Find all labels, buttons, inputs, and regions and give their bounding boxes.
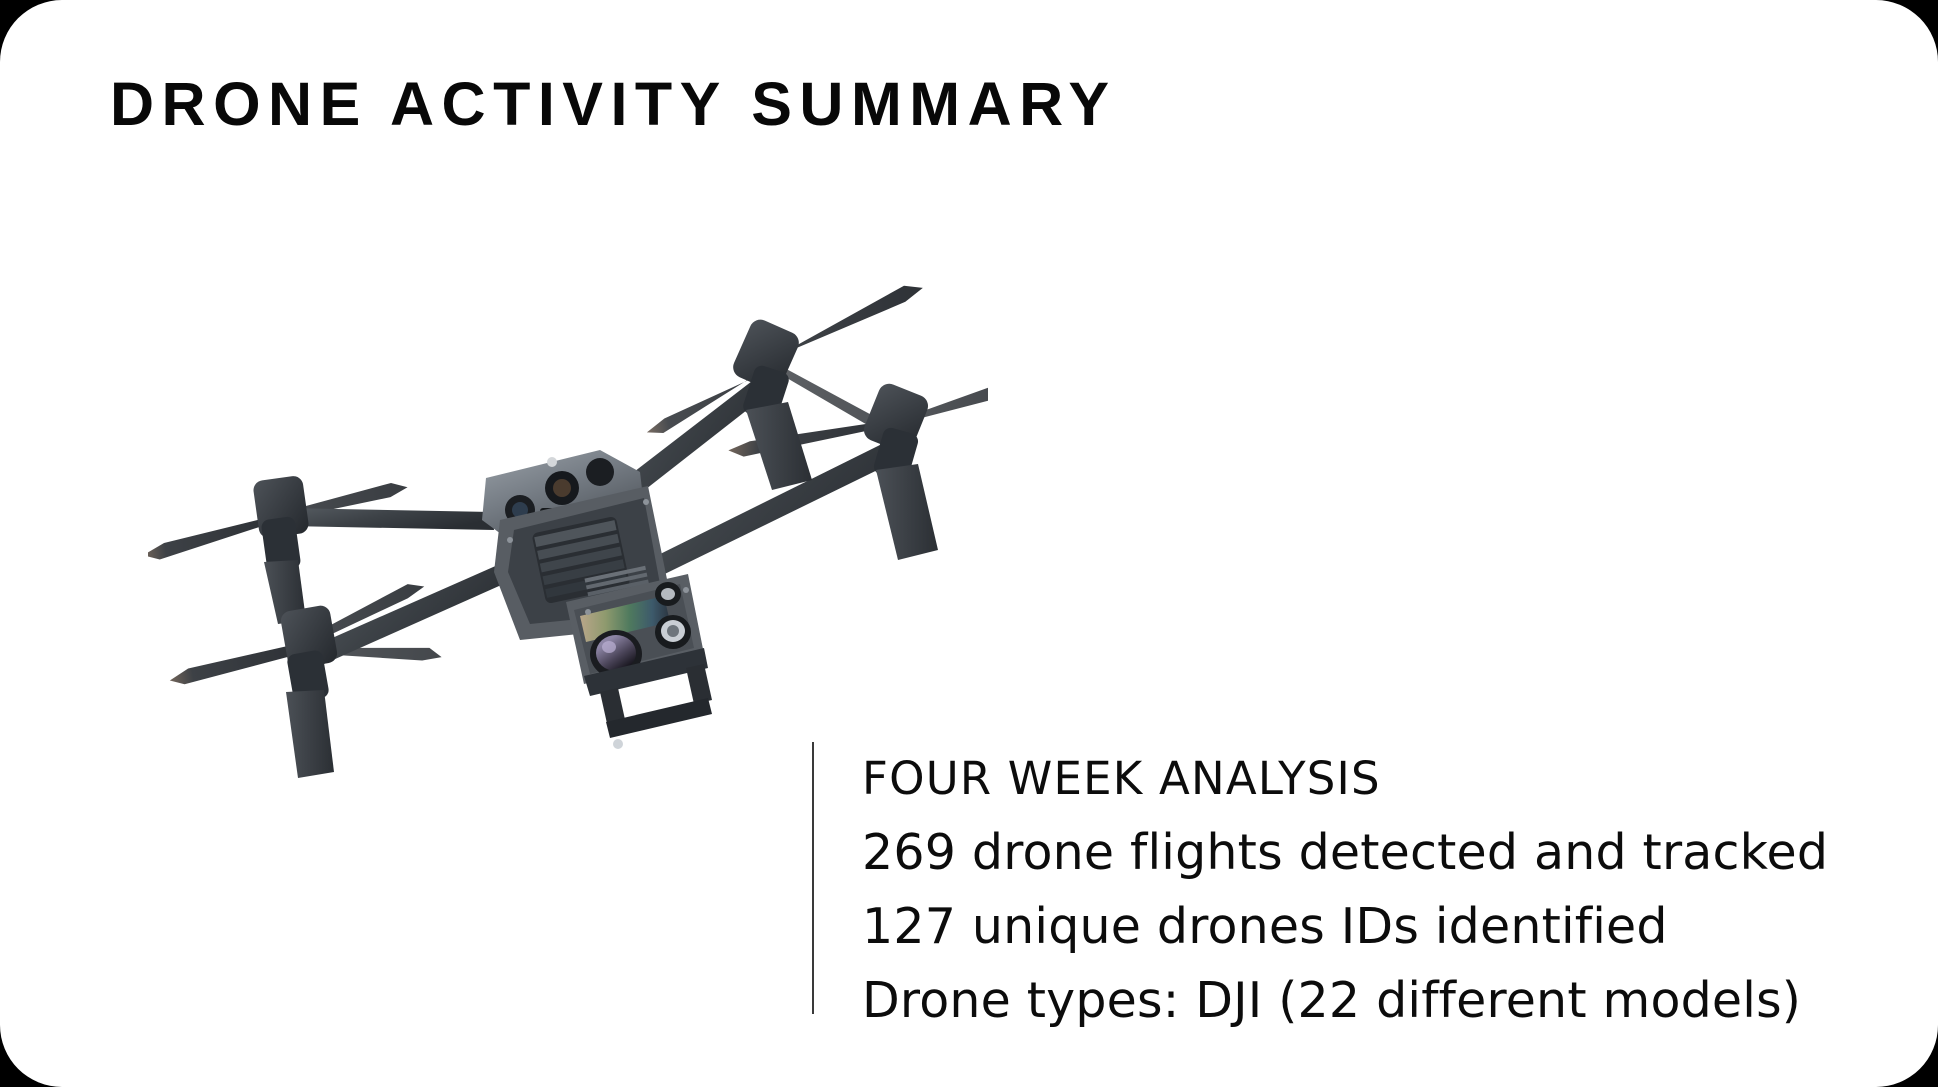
page-title: DRONE ACTIVITY SUMMARY [110, 72, 1117, 136]
stat-line-drone-types: Drone types: DJI (22 different models) [862, 964, 1828, 1038]
stats-block: FOUR WEEK ANALYSIS 269 drone flights det… [812, 742, 1828, 1038]
stat-line-unique-ids: 127 unique drones IDs identified [862, 890, 1828, 964]
motor-rear-left [279, 604, 338, 778]
slide-card: DRONE ACTIVITY SUMMARY [0, 0, 1938, 1087]
drone-body [482, 450, 712, 749]
arm-front-left [286, 508, 494, 530]
motor-front-left [252, 475, 310, 624]
stat-line-flights: 269 drone flights detected and tracked [862, 816, 1828, 890]
stats-heading: FOUR WEEK ANALYSIS [862, 742, 1828, 816]
drone-photo [148, 272, 988, 792]
stats-lines: FOUR WEEK ANALYSIS 269 drone flights det… [814, 742, 1828, 1038]
